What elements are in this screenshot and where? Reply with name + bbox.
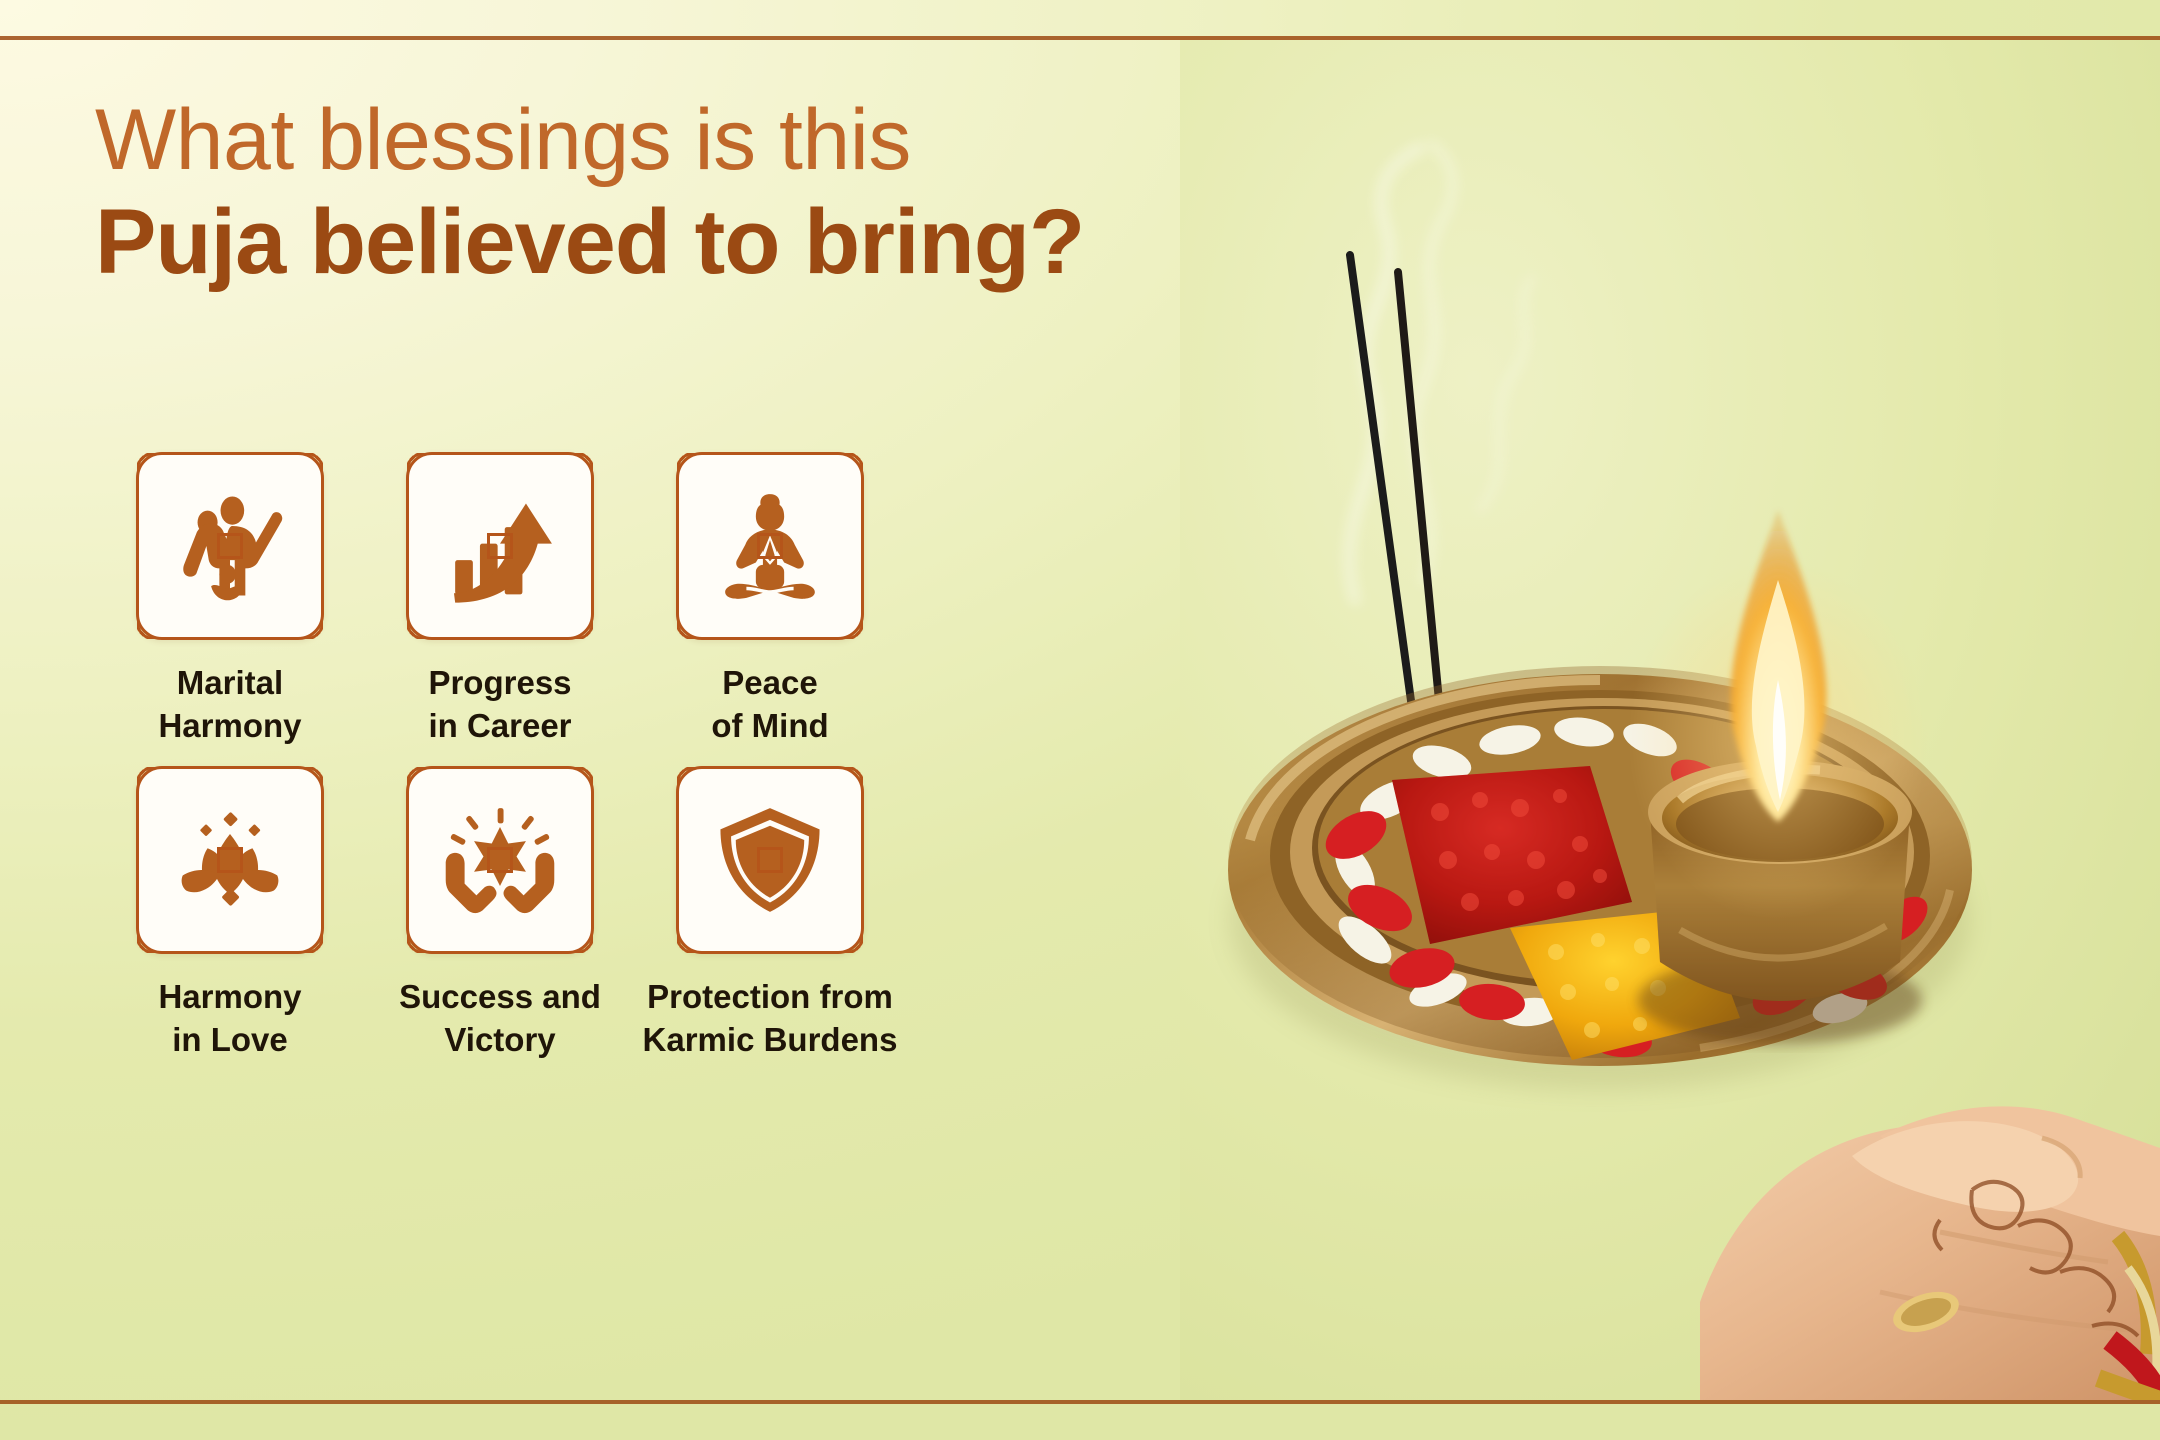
blessing-icon-card[interactable] xyxy=(406,452,594,640)
blessing-label: Protection from Karmic Burdens xyxy=(643,976,898,1062)
title-line-2: Puja believed to bring? xyxy=(95,195,1175,291)
blessing-item[interactable]: Protection from Karmic Burdens xyxy=(635,766,905,1062)
blessing-item[interactable]: Harmony in Love xyxy=(95,766,365,1062)
lotus-flower-icon xyxy=(171,801,289,919)
blessing-item[interactable]: Peace of Mind xyxy=(635,452,905,748)
title-line-1: What blessings is this xyxy=(95,96,1175,185)
blessing-icon-card[interactable] xyxy=(676,766,864,954)
blessing-label: Progress in Career xyxy=(428,662,571,748)
blessing-icon-card[interactable] xyxy=(406,766,594,954)
blessing-label: Marital Harmony xyxy=(158,662,301,748)
blessings-grid: Marital Harmony Progress in Career xyxy=(95,452,905,1062)
puja-thali-illustration xyxy=(1180,40,2160,1400)
blessing-icon-card[interactable] xyxy=(136,766,324,954)
blessing-label: Harmony in Love xyxy=(158,976,301,1062)
bottom-divider-rule xyxy=(0,1400,2160,1404)
blessing-label: Peace of Mind xyxy=(711,662,828,748)
growth-chart-arrow-icon xyxy=(441,487,559,605)
poster-root: What blessings is this Puja believed to … xyxy=(0,0,2160,1440)
page-title: What blessings is this Puja believed to … xyxy=(95,96,1175,291)
family-raised-arms-icon xyxy=(171,487,289,605)
blessing-item[interactable]: Marital Harmony xyxy=(95,452,365,748)
blessing-item[interactable]: Success and Victory xyxy=(365,766,635,1062)
blessing-item[interactable]: Progress in Career xyxy=(365,452,635,748)
blessing-icon-card[interactable] xyxy=(676,452,864,640)
hands-holding-star-icon xyxy=(441,801,559,919)
blessing-label: Success and Victory xyxy=(399,976,601,1062)
meditation-lotus-pose-icon xyxy=(711,487,829,605)
blessing-icon-card[interactable] xyxy=(136,452,324,640)
shield-icon xyxy=(711,801,829,919)
puja-thali-photo xyxy=(1180,40,2160,1400)
